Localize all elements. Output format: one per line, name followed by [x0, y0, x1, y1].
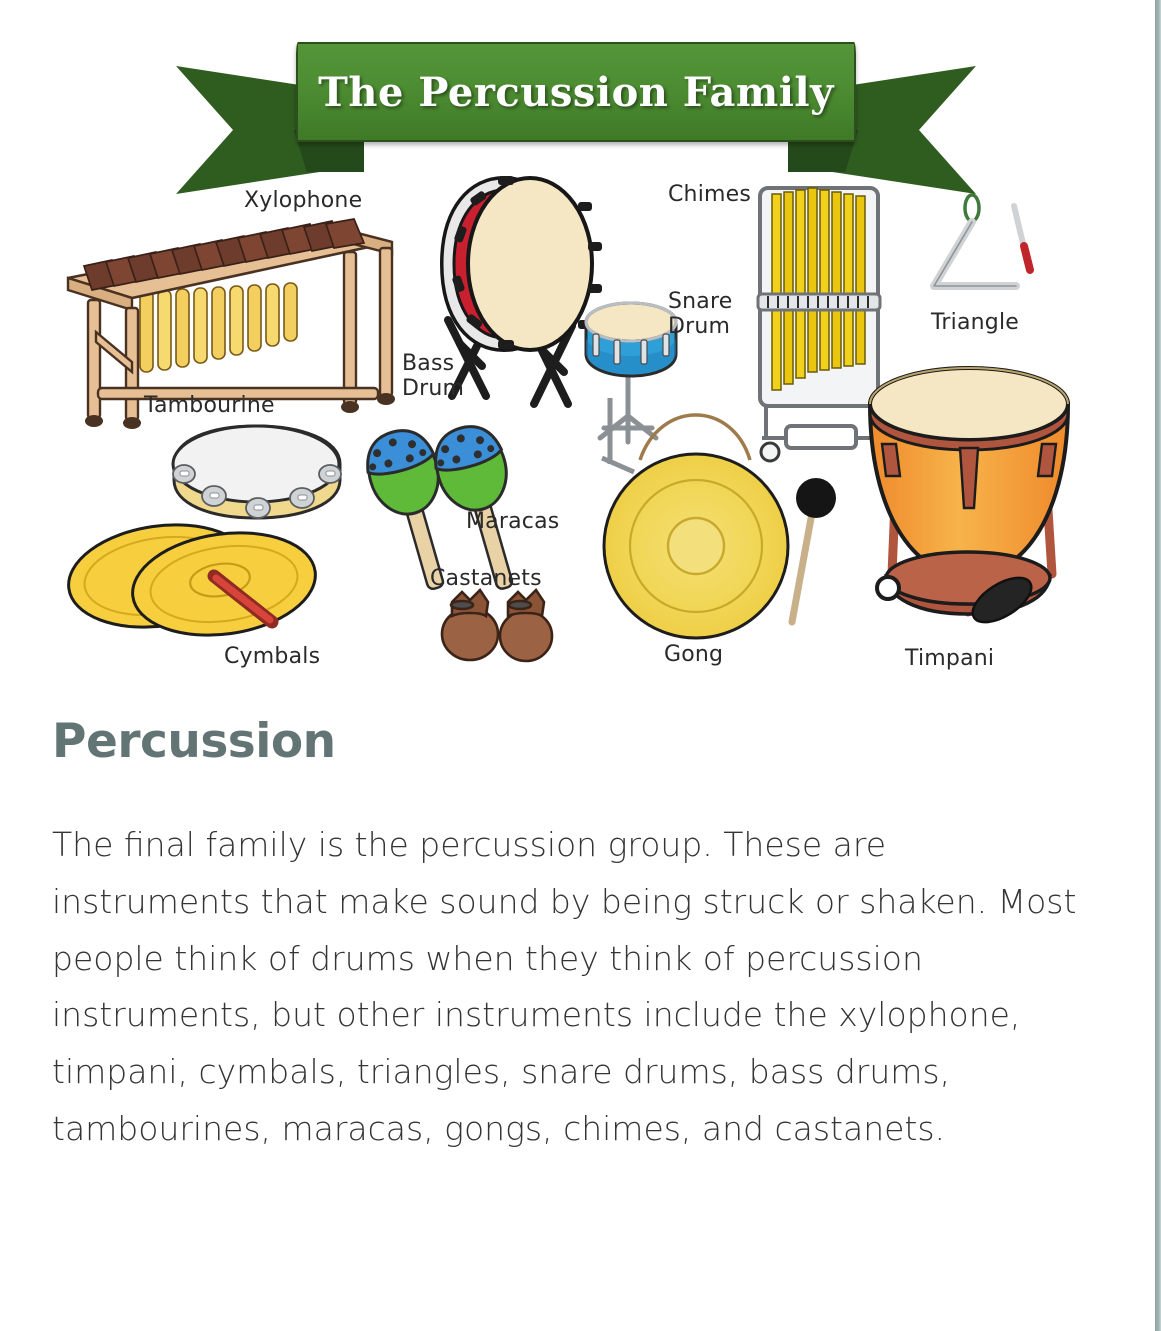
- label-castanets: Castanets: [430, 567, 542, 592]
- label-snare-drum: Snare Drum: [668, 290, 733, 339]
- percussion-family-poster: The Percussion Family: [0, 0, 1155, 700]
- cymbals-illustration: [64, 518, 324, 648]
- label-triangle: Triangle: [931, 311, 1019, 336]
- label-cymbals: Cymbals: [224, 645, 320, 670]
- label-bass-drum: Bass Drum: [402, 352, 464, 401]
- tambourine-illustration: [168, 420, 348, 530]
- triangle-illustration: [920, 194, 1040, 304]
- article-body: Percussion The final family is the percu…: [0, 700, 1155, 1158]
- banner-title: The Percussion Family: [318, 69, 834, 116]
- label-xylophone: Xylophone: [244, 189, 362, 214]
- label-gong: Gong: [664, 643, 723, 668]
- label-chimes: Chimes: [668, 183, 751, 208]
- page-root: The Percussion Family: [0, 0, 1161, 1331]
- banner-plate: The Percussion Family: [296, 42, 856, 142]
- timpani-illustration: [852, 360, 1087, 630]
- gong-illustration: [600, 398, 850, 638]
- label-timpani: Timpani: [905, 647, 994, 672]
- page-title: Percussion: [52, 714, 1103, 769]
- banner: The Percussion Family: [176, 42, 976, 172]
- body-paragraph: The final family is the percussion group…: [52, 817, 1092, 1158]
- scrollbar-track[interactable]: [1155, 0, 1161, 1331]
- castanets-illustration: [436, 588, 566, 666]
- label-tambourine: Tambourine: [144, 394, 275, 419]
- label-maracas: Maracas: [466, 510, 559, 535]
